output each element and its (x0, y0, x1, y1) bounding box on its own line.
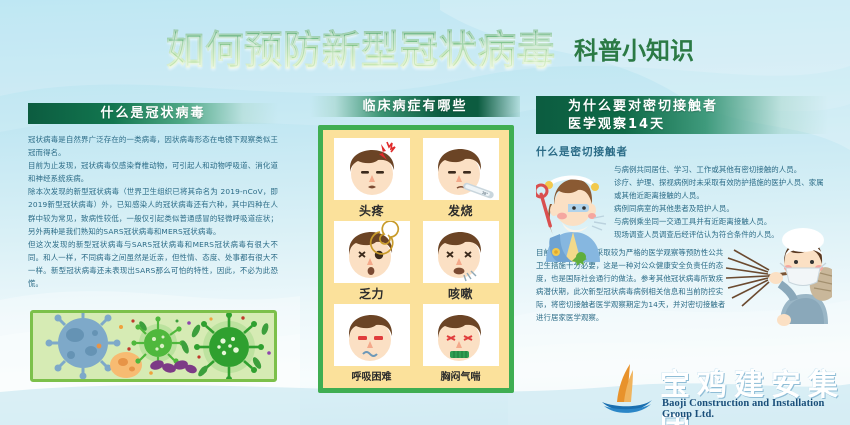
paragraph: 除本次发现的新型冠状病毒（世界卫生组织已将其命名为 2019-nCoV，即201… (28, 185, 278, 237)
list-item: 与病例乘坐同一交通工具并有近距离接触人员。 (614, 215, 828, 228)
page-title: 如何预防新型冠状病毒科普小知识 (0, 18, 850, 76)
symptom-item-breathing-difficulty: 呼吸困难 (329, 304, 414, 383)
symptom-item-headache: 头疼 (329, 138, 414, 219)
face-cough-icon (423, 221, 499, 283)
symptom-card: 头疼 38° 发烧 (318, 125, 514, 393)
symptom-item-chest-tightness: 胸闷气喘 (418, 304, 503, 383)
list-item: 病例同病室的其他患者及陪护人员。 (614, 202, 828, 215)
symptom-label: 乏力 (359, 285, 384, 302)
virus-cells-illustration (30, 310, 277, 382)
disinfection-worker-icon (672, 228, 832, 336)
symptom-item-fatigue: 乏力 (329, 221, 414, 302)
symptom-label: 发烧 (448, 202, 473, 219)
sneezing-person-icon (536, 158, 610, 266)
face-chest-tightness-icon (423, 304, 499, 366)
sail-swoosh-logo-icon (598, 360, 656, 418)
paragraph: 冠状病毒是自然界广泛存在的一类病毒，因状病毒形态在电镜下观察类似王冠而得名。 (28, 133, 278, 159)
face-headache-icon (334, 138, 410, 200)
list-item: 与病例共同居住、学习、工作或其他有密切接触的人员。 (614, 163, 828, 176)
symptom-label: 咳嗽 (448, 285, 473, 302)
panel-clinical-symptoms: 临床病症有哪些 头疼 (310, 96, 520, 393)
page-title-main: 如何预防新型冠状病毒 (166, 18, 556, 76)
paragraph: 目前为止发现，冠状病毒仅感染脊椎动物，可引起人和动物呼吸道、消化道和神经系统疾病… (28, 159, 278, 185)
symptom-item-fever: 38° 发烧 (418, 138, 503, 219)
panel-left-body: 冠状病毒是自然界广泛存在的一类病毒，因状病毒形态在电镜下观察类似王冠而得名。 目… (28, 133, 278, 290)
symptom-item-cough: 咳嗽 (418, 221, 503, 302)
paragraph: 但这次发现的新型冠状病毒与SARS冠状病毒和MERS冠状病毒有很大不同。和人一样… (28, 238, 278, 290)
panel-what-is-coronavirus: 什么是冠状病毒 冠状病毒是自然界广泛存在的一类病毒，因状病毒形态在电镜下观察类似… (28, 103, 278, 290)
panel-right-subheading: 什么是密切接触者 (536, 144, 828, 159)
symptom-label: 呼吸困难 (352, 368, 392, 383)
company-logo: 宝鸡建安集团 Baoji Construction and Installati… (598, 358, 848, 420)
symptom-label: 胸闷气喘 (441, 368, 481, 383)
face-breathing-difficulty-icon (334, 304, 410, 366)
logo-english-name: Baoji Construction and Installation Grou… (662, 398, 848, 420)
face-fatigue-icon (334, 221, 410, 283)
panel-close-contact-observation: 为什么要对密切接触者 医学观察14天 什么是密切接触者 与病例共同居住、学习、工… (536, 96, 828, 324)
symptom-grid: 头疼 38° 发烧 (329, 138, 503, 382)
panel-left-heading: 什么是冠状病毒 (28, 103, 278, 124)
list-item: 诊疗、护理、探视病例时未采取有效防护措施的医护人员、家属或其他近距离接触的人员。 (614, 176, 828, 202)
panel-right-heading-line1: 为什么要对密切接触者 (568, 98, 828, 116)
symptom-label: 头疼 (359, 202, 384, 219)
face-fever-icon: 38° (423, 138, 499, 200)
panel-mid-heading: 临床病症有哪些 (310, 96, 520, 117)
page-title-sub: 科普小知识 (574, 31, 694, 66)
panel-right-heading: 为什么要对密切接触者 医学观察14天 (536, 96, 828, 134)
panel-right-heading-line2: 医学观察14天 (568, 116, 828, 134)
